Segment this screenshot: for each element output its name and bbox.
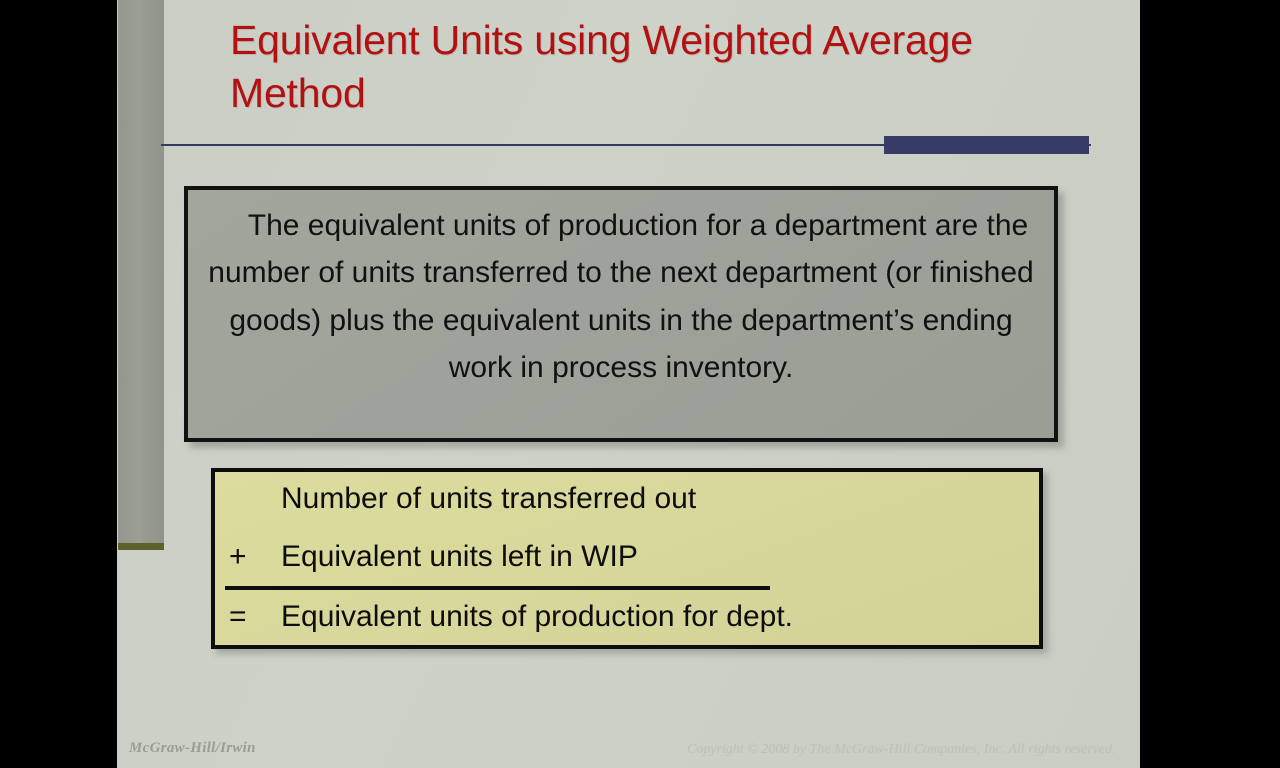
equation-row-label: Number of units transferred out	[281, 482, 696, 516]
slide-canvas: Equivalent Units using Weighted Average …	[117, 0, 1140, 768]
definition-box-text: The equivalent units of production for a…	[204, 202, 1038, 392]
slide-stage: Equivalent Units using Weighted Average …	[0, 0, 1280, 768]
equation-sum-rule	[225, 586, 770, 590]
footer-copyright: Copyright © 2008 by The McGraw-Hill Comp…	[687, 742, 1116, 758]
slide-title: Equivalent Units using Weighted Average …	[230, 14, 990, 121]
left-decorative-band-cap	[118, 543, 164, 550]
definition-box: The equivalent units of production for a…	[184, 186, 1058, 442]
title-accent-block	[884, 136, 1089, 154]
equation-row-label: Equivalent units of production for dept.	[281, 600, 793, 634]
left-decorative-band	[118, 0, 164, 543]
equation-row-label: Equivalent units left in WIP	[281, 540, 638, 574]
equation-row-wip: + Equivalent units left in WIP	[215, 540, 1039, 574]
equation-operator-equals: =	[215, 600, 281, 634]
equation-box: Number of units transferred out + Equiva…	[211, 468, 1043, 649]
equation-operator-plus: +	[215, 540, 281, 574]
footer-publisher: McGraw-Hill/Irwin	[129, 740, 256, 757]
equation-row-total: = Equivalent units of production for dep…	[215, 600, 1039, 634]
equation-row-transferred-out: Number of units transferred out	[215, 482, 1039, 516]
